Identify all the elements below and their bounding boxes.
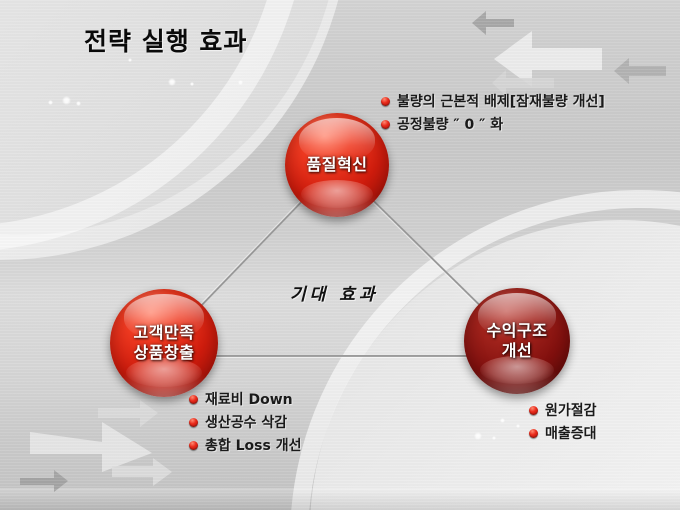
sparkle-dot bbox=[128, 58, 132, 62]
node-customer-label-line2: 상품창출 bbox=[134, 343, 195, 363]
node-customer[interactable]: 고객만족 상품창출 bbox=[110, 289, 218, 397]
bullet-label: 매출증대 bbox=[545, 423, 597, 443]
node-quality[interactable]: 품질혁신 bbox=[285, 113, 389, 217]
sparkle-dot bbox=[190, 82, 194, 86]
sparkle-dot bbox=[500, 418, 505, 423]
list-item: 생산공수 삭감 bbox=[189, 412, 301, 432]
sparkle-dot bbox=[474, 432, 482, 440]
sparkle-dot bbox=[48, 100, 53, 105]
slide-canvas: 전략 실행 효과 품질혁신 고객만족 상품창출 수익구조 개선 기대 효과 불량… bbox=[0, 0, 680, 510]
bottom-band bbox=[0, 488, 680, 510]
bullet-label: 원가절감 bbox=[545, 400, 597, 420]
node-customer-label-line1: 고객만족 bbox=[134, 323, 195, 343]
bullet-dot-icon bbox=[381, 120, 390, 129]
node-profit[interactable]: 수익구조 개선 bbox=[464, 288, 570, 394]
bullet-dot-icon bbox=[189, 395, 198, 404]
profit-bullets: 원가절감 매출증대 bbox=[529, 400, 597, 446]
list-item: 불량의 근본적 배제[잠재불량 개선] bbox=[381, 91, 605, 111]
sparkle-dot bbox=[168, 78, 176, 86]
sparkle-dot bbox=[76, 101, 81, 106]
node-quality-label-line1: 품질혁신 bbox=[307, 155, 368, 174]
node-customer-label: 고객만족 상품창출 bbox=[134, 323, 195, 364]
bullet-dot-icon bbox=[381, 97, 390, 106]
bullet-label: 생산공수 삭감 bbox=[205, 412, 287, 432]
center-caption: 기대 효과 bbox=[290, 280, 378, 305]
page-title: 전략 실행 효과 bbox=[84, 22, 247, 58]
list-item: 총합 Loss 개선 bbox=[189, 435, 301, 455]
node-profit-label: 수익구조 개선 bbox=[487, 321, 548, 362]
node-quality-label: 품질혁신 bbox=[307, 155, 368, 175]
arrow-right-small-lower-icon bbox=[110, 455, 174, 489]
node-profit-label-line2: 개선 bbox=[487, 341, 548, 361]
sparkle-dot bbox=[238, 80, 243, 85]
connector-customer-profit bbox=[164, 355, 517, 357]
sparkle-dot bbox=[492, 436, 496, 440]
arrow-right-small-upper-icon bbox=[96, 398, 160, 430]
bullet-label: 총합 Loss 개선 bbox=[205, 435, 301, 455]
bullet-dot-icon bbox=[189, 418, 198, 427]
bullet-dot-icon bbox=[189, 441, 198, 450]
sphere-underglow bbox=[301, 180, 374, 208]
sparkle-dot bbox=[516, 424, 520, 428]
list-item: 재료비 Down bbox=[189, 389, 301, 409]
list-item: 공정불량 ″ 0 ″ 화 bbox=[381, 114, 605, 134]
arrow-right-small-thin-icon bbox=[18, 468, 70, 494]
bullet-label: 공정불량 ″ 0 ″ 화 bbox=[397, 114, 503, 134]
customer-bullets: 재료비 Down 생산공수 삭감 총합 Loss 개선 bbox=[189, 389, 301, 458]
bullet-label: 재료비 Down bbox=[205, 389, 293, 409]
quality-bullets: 불량의 근본적 배제[잠재불량 개선] 공정불량 ″ 0 ″ 화 bbox=[381, 91, 605, 137]
bullet-label: 불량의 근본적 배제[잠재불량 개선] bbox=[397, 91, 605, 111]
arrow-left-small-right-icon bbox=[612, 55, 668, 87]
list-item: 매출증대 bbox=[529, 423, 597, 443]
sparkle-dot bbox=[62, 96, 71, 105]
node-profit-label-line1: 수익구조 bbox=[487, 321, 548, 341]
list-item: 원가절감 bbox=[529, 400, 597, 420]
bullet-dot-icon bbox=[529, 406, 538, 415]
bullet-dot-icon bbox=[529, 429, 538, 438]
